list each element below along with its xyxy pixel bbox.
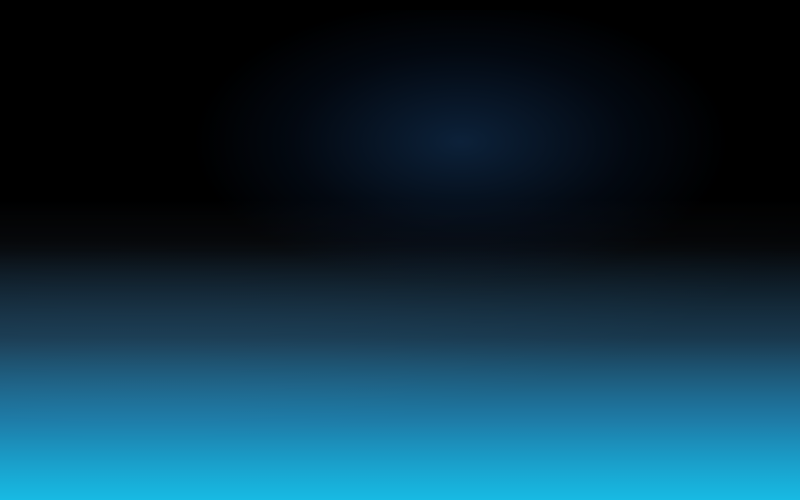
nanotube-title-banner [0, 0, 800, 500]
nanotube-artwork [0, 0, 800, 500]
nanotube-lattice-svg [0, 0, 800, 500]
